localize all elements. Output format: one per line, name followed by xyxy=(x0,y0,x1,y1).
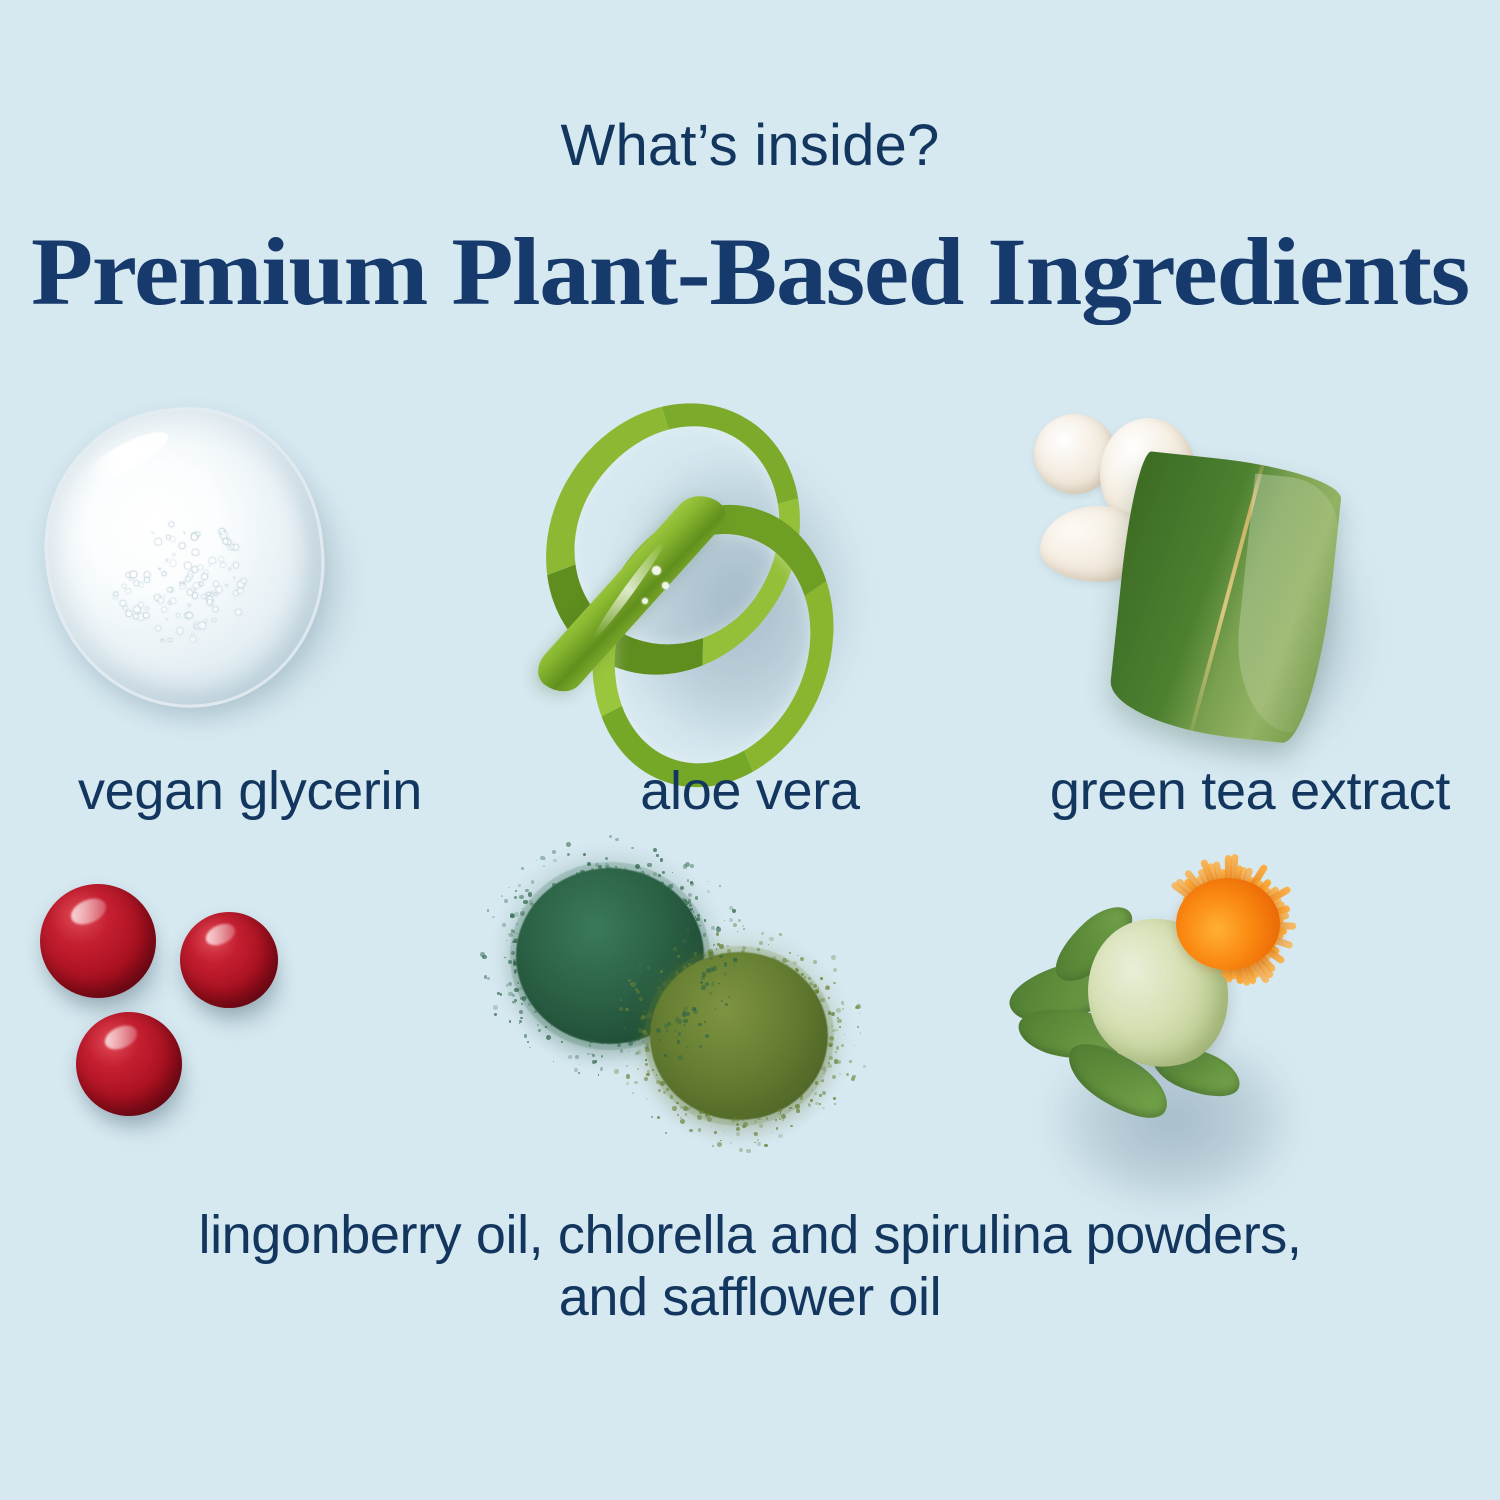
powder-speck xyxy=(759,941,763,945)
powder-speck xyxy=(602,1042,604,1044)
powder-speck xyxy=(778,1134,782,1138)
powder-speck xyxy=(651,1116,653,1118)
gel-bubble xyxy=(183,532,186,535)
gel-bubble xyxy=(167,638,172,643)
powder-speck xyxy=(746,1149,750,1153)
powder-speck xyxy=(815,1102,818,1105)
powder-speck xyxy=(704,1021,706,1023)
powder-speck xyxy=(566,842,571,847)
powder-speck xyxy=(598,1074,600,1076)
powder-speck xyxy=(523,900,528,905)
powder-speck xyxy=(645,1048,650,1053)
powder-speck xyxy=(797,955,798,956)
gel-bubble xyxy=(195,531,200,536)
powder-speck xyxy=(835,1051,837,1053)
powder-speck xyxy=(644,1010,646,1012)
powder-speck xyxy=(668,884,673,889)
lingonberry xyxy=(40,884,156,998)
powder-speck xyxy=(761,1119,762,1120)
powder-speck xyxy=(527,1041,529,1043)
powder-speck xyxy=(705,982,709,986)
powder-speck xyxy=(712,1145,714,1147)
powder-speck xyxy=(833,968,837,972)
powder-speck xyxy=(504,899,508,903)
powder-speck xyxy=(789,1107,791,1109)
powder-speck xyxy=(764,1144,768,1148)
powder-speck xyxy=(837,1019,841,1023)
aloe-vera-peel-image xyxy=(500,390,1000,735)
gel-bubble xyxy=(124,588,131,595)
gel-bubble xyxy=(212,606,218,612)
powder-speck xyxy=(614,1069,618,1073)
powder-speck xyxy=(600,1067,604,1071)
gel-bubble xyxy=(214,592,219,597)
powder-speck xyxy=(568,1055,572,1059)
powder-speck xyxy=(640,868,641,869)
powder-speck xyxy=(815,1081,819,1085)
powder-speck xyxy=(662,871,665,874)
powder-speck xyxy=(683,864,687,868)
powder-speck xyxy=(663,982,667,986)
safflower-orange-floret xyxy=(1176,878,1280,970)
green-tea-leaf-image xyxy=(1000,390,1500,735)
gel-bubble xyxy=(176,627,184,635)
gel-bubble xyxy=(145,606,149,610)
green-tea-leaf xyxy=(1106,450,1344,746)
powder-speck xyxy=(814,987,815,988)
powder-speck xyxy=(656,854,658,856)
powder-speck xyxy=(712,966,717,971)
powder-speck xyxy=(644,1077,648,1081)
gel-bubble xyxy=(169,559,177,567)
powder-speck xyxy=(844,1034,845,1035)
powder-speck xyxy=(497,992,499,994)
powder-speck xyxy=(514,912,519,917)
powder-speck xyxy=(536,860,537,861)
powder-speck xyxy=(546,1035,551,1040)
powder-speck xyxy=(725,1003,727,1005)
gel-bubble xyxy=(189,635,197,643)
powder-speck xyxy=(517,982,519,984)
powder-speck xyxy=(786,964,788,966)
powder-speck xyxy=(514,936,515,937)
powder-speck xyxy=(716,932,719,935)
powder-speck xyxy=(553,1061,554,1062)
aloe-gel-bead xyxy=(652,566,661,575)
ingredient-label-aloe-vera: aloe vera xyxy=(500,760,1000,822)
page-title: Premium Plant-Based Ingredients xyxy=(0,216,1500,327)
powder-speck xyxy=(516,933,517,934)
powder-speck xyxy=(587,862,591,866)
powder-speck xyxy=(675,1017,679,1021)
powder-speck xyxy=(822,1107,825,1110)
powder-speck xyxy=(779,933,781,935)
powder-speck xyxy=(525,997,527,999)
powder-speck xyxy=(617,1043,621,1047)
powder-speck xyxy=(524,1034,528,1038)
powder-speck xyxy=(768,944,769,945)
powder-speck xyxy=(514,969,518,973)
powder-speck xyxy=(520,911,525,916)
powder-speck xyxy=(674,1030,676,1032)
gel-bubble xyxy=(200,573,208,581)
powder-speck xyxy=(860,1032,862,1034)
powder-speck xyxy=(500,993,502,995)
powder-speck xyxy=(834,1059,838,1063)
powder-speck xyxy=(780,1112,782,1114)
powder-speck xyxy=(841,1044,844,1047)
powder-speck xyxy=(655,999,656,1000)
gel-bubble xyxy=(176,613,181,618)
gel-bubble xyxy=(168,601,173,606)
powder-speck xyxy=(660,1081,665,1086)
powder-speck xyxy=(519,895,523,899)
powder-speck xyxy=(863,1065,866,1068)
gel-bubble xyxy=(237,587,245,595)
powder-speck xyxy=(514,896,517,899)
aloe-gel-bead xyxy=(642,598,648,604)
powder-speck xyxy=(545,1026,547,1028)
powder-speck xyxy=(514,988,518,992)
powder-speck xyxy=(719,885,721,887)
powder-speck xyxy=(634,1081,637,1084)
powder-speck xyxy=(800,957,805,962)
gel-bubble xyxy=(129,570,137,578)
powder-speck xyxy=(609,867,613,871)
powder-speck xyxy=(716,948,717,949)
powder-speck xyxy=(711,955,714,958)
gel-bubble xyxy=(151,531,154,534)
powder-speck xyxy=(790,1125,792,1127)
gel-bubble xyxy=(164,594,167,597)
gel-bubble xyxy=(186,573,193,580)
powder-speck xyxy=(518,884,521,887)
powder-speck xyxy=(660,858,663,861)
gel-bubble xyxy=(125,610,133,618)
gel-bubble xyxy=(154,537,162,545)
powder-speck xyxy=(605,857,608,860)
ingredient-row-top: vegan glycerin aloe vera xyxy=(0,390,1500,830)
powder-speck xyxy=(828,1064,832,1068)
powder-speck xyxy=(487,909,489,911)
powder-speck xyxy=(820,977,823,980)
powder-speck xyxy=(757,1142,761,1146)
powder-speck xyxy=(819,1094,822,1097)
gel-bubble xyxy=(197,621,206,630)
powder-speck xyxy=(515,941,517,943)
powder-speck xyxy=(720,1140,721,1141)
gel-bubble xyxy=(161,607,167,613)
gel-bubble xyxy=(228,567,231,570)
powder-speck xyxy=(677,955,680,958)
powder-speck xyxy=(646,1073,649,1076)
powder-speck xyxy=(757,1139,759,1141)
powder-speck xyxy=(742,946,746,950)
powder-speck xyxy=(493,1005,497,1009)
powder-speck xyxy=(680,886,684,890)
ingredient-cell-lingonberry xyxy=(0,860,500,1200)
powder-speck xyxy=(754,1142,755,1143)
powder-speck xyxy=(672,872,673,873)
powder-speck xyxy=(595,863,599,867)
powder-speck xyxy=(630,983,632,985)
ingredient-cell-algae-powders xyxy=(500,860,1000,1200)
bottom-caption: lingonberry oil, chlorella and spirulina… xyxy=(0,1205,1500,1328)
powder-speck xyxy=(705,1113,709,1117)
powder-speck xyxy=(833,1097,836,1100)
powder-speck xyxy=(742,925,744,927)
powder-speck xyxy=(578,1072,579,1073)
powder-speck xyxy=(698,1128,702,1132)
powder-speck xyxy=(761,932,765,936)
gel-bubble xyxy=(240,578,246,584)
powder-speck xyxy=(769,937,773,941)
powder-speck xyxy=(829,1056,833,1060)
gel-bubble xyxy=(222,538,229,545)
powder-speck xyxy=(801,973,804,976)
powder-speck xyxy=(808,977,811,980)
powder-speck xyxy=(640,871,645,876)
powder-speck xyxy=(795,1104,800,1109)
powder-speck xyxy=(601,1056,603,1058)
powder-speck xyxy=(508,887,510,889)
bottom-caption-line-2: and safflower oil xyxy=(0,1267,1500,1329)
powder-speck xyxy=(647,1045,649,1047)
powder-speck xyxy=(502,923,506,927)
powder-speck xyxy=(757,948,760,951)
powder-speck xyxy=(580,870,584,874)
powder-speck xyxy=(544,858,546,860)
gel-bubble xyxy=(232,561,239,568)
powder-speck xyxy=(645,1059,647,1061)
powder-speck xyxy=(519,987,522,990)
powder-speck xyxy=(821,1080,823,1082)
powder-speck xyxy=(509,933,512,936)
gel-bubble xyxy=(191,548,199,556)
gel-bubble xyxy=(157,596,165,604)
powder-speck xyxy=(836,1029,838,1031)
gel-bubble xyxy=(209,565,211,567)
powder-speck xyxy=(635,988,638,991)
powder-speck xyxy=(637,1050,641,1054)
ingredient-row-bottom xyxy=(0,860,1500,1200)
powder-speck xyxy=(680,1119,685,1124)
powder-speck xyxy=(528,892,532,896)
powder-speck xyxy=(531,880,534,883)
powder-speck xyxy=(778,1108,782,1112)
powder-speck xyxy=(735,1117,740,1122)
powder-speck xyxy=(508,992,512,996)
powder-speck xyxy=(506,984,509,987)
powder-speck xyxy=(509,1020,511,1022)
powder-speck xyxy=(831,1012,835,1016)
powder-speck xyxy=(703,954,706,957)
powder-speck xyxy=(782,1119,783,1120)
powder-speck xyxy=(514,999,517,1002)
gel-bubble xyxy=(220,530,228,538)
powder-speck xyxy=(592,1060,596,1064)
powder-speck xyxy=(658,874,661,877)
powder-speck xyxy=(696,917,700,921)
powder-speck xyxy=(521,867,524,870)
powder-speck xyxy=(832,1075,836,1079)
powder-speck xyxy=(625,1008,629,1012)
powder-speck xyxy=(842,1004,843,1005)
powder-speck xyxy=(733,958,737,962)
powder-speck xyxy=(609,835,612,838)
gel-bubble xyxy=(165,618,168,621)
powder-speck xyxy=(583,853,586,856)
powder-speck xyxy=(712,981,714,983)
powder-speck xyxy=(759,952,760,953)
eyebrow-text: What’s inside? xyxy=(0,112,1500,179)
powder-speck xyxy=(690,1107,692,1109)
powder-speck xyxy=(707,1117,712,1122)
powder-speck xyxy=(698,1023,701,1026)
powder-speck xyxy=(786,960,788,962)
powder-speck xyxy=(610,1041,613,1044)
glycerin-droplet-image xyxy=(0,390,500,735)
gel-bubble xyxy=(170,587,175,592)
powder-speck xyxy=(643,1018,644,1019)
powder-speck xyxy=(658,990,663,995)
powder-speck xyxy=(701,985,705,989)
powder-speck xyxy=(561,1041,563,1043)
powder-speck xyxy=(677,1114,678,1115)
powder-speck xyxy=(635,864,640,869)
powder-speck xyxy=(733,923,737,927)
powder-speck xyxy=(506,940,507,941)
powder-speck xyxy=(626,1074,630,1078)
aloe-gel-bead xyxy=(662,582,669,589)
powder-speck xyxy=(721,1000,723,1002)
powder-speck xyxy=(711,926,715,930)
powder-speck xyxy=(519,1010,523,1014)
powder-speck xyxy=(626,1082,629,1085)
gel-bubble xyxy=(165,559,169,563)
powder-speck xyxy=(697,1115,702,1120)
powder-speck xyxy=(849,1060,852,1063)
gel-bubble xyxy=(211,618,216,623)
powder-speck xyxy=(656,1074,657,1075)
powder-speck xyxy=(714,1131,717,1134)
gel-bubble xyxy=(206,599,213,606)
powder-speck xyxy=(855,1006,858,1009)
powder-speck xyxy=(537,1024,539,1026)
powder-speck xyxy=(813,960,817,964)
powder-speck xyxy=(687,879,690,882)
powder-speck xyxy=(754,1120,757,1123)
powder-speck xyxy=(660,881,664,885)
powder-speck xyxy=(567,853,570,856)
powder-speck xyxy=(833,982,835,984)
powder-speck xyxy=(628,1051,629,1052)
powder-speck xyxy=(793,961,797,965)
powder-speck xyxy=(579,1064,580,1065)
powder-speck xyxy=(637,1068,638,1069)
ingredient-cell-aloe-vera: aloe vera xyxy=(500,390,1000,830)
powder-speck xyxy=(824,1070,826,1072)
gel-bubble xyxy=(114,592,119,597)
powder-speck xyxy=(828,1062,829,1063)
gel-bubble xyxy=(138,601,144,607)
powder-speck xyxy=(620,1049,624,1053)
powder-speck xyxy=(695,896,698,899)
powder-speck xyxy=(777,960,779,962)
powder-speck xyxy=(689,904,692,907)
powder-speck xyxy=(831,955,836,960)
powder-speck xyxy=(789,1110,790,1111)
gel-bubble xyxy=(143,612,150,619)
powder-speck xyxy=(684,1025,685,1026)
gel-bubble xyxy=(161,639,165,643)
ingredient-cell-green-tea-extract: green tea extract xyxy=(1000,390,1500,830)
powder-speck xyxy=(504,957,506,959)
powder-speck xyxy=(615,838,618,841)
powder-speck xyxy=(733,964,735,966)
powder-speck xyxy=(796,1109,800,1113)
powder-speck xyxy=(736,1132,740,1136)
powder-speck xyxy=(689,908,692,911)
powder-speck xyxy=(652,1069,654,1071)
powder-speck xyxy=(823,1073,825,1075)
powder-speck xyxy=(520,997,523,1000)
powder-speck xyxy=(528,1003,531,1006)
powder-speck xyxy=(576,872,580,876)
powder-speck xyxy=(808,1104,812,1108)
powder-speck xyxy=(647,1013,652,1018)
powder-speck xyxy=(511,951,515,955)
ingredient-label-green-tea-extract: green tea extract xyxy=(1000,760,1500,822)
powder-speck xyxy=(672,883,674,885)
gel-bubble xyxy=(233,576,236,579)
powder-speck xyxy=(693,911,694,912)
powder-speck xyxy=(854,1045,855,1046)
gel-bubble xyxy=(227,546,232,551)
powder-speck xyxy=(508,982,512,986)
powder-speck xyxy=(730,1142,732,1144)
powder-speck xyxy=(645,1063,648,1066)
powder-speck xyxy=(724,920,725,921)
gel-bubble xyxy=(208,557,216,565)
powder-speck xyxy=(657,1116,660,1119)
powder-speck xyxy=(842,1008,844,1010)
powder-speck xyxy=(706,968,711,973)
powder-speck xyxy=(703,933,707,937)
powder-speck xyxy=(743,928,745,930)
powder-speck xyxy=(640,1035,645,1040)
powder-speck xyxy=(689,1129,692,1132)
powder-speck xyxy=(775,1119,777,1121)
powder-speck xyxy=(690,864,693,867)
powder-speck xyxy=(700,981,702,983)
powder-speck xyxy=(589,1039,593,1043)
powder-speck xyxy=(552,850,556,854)
powder-speck xyxy=(739,1148,742,1151)
powder-speck xyxy=(515,890,517,892)
powder-speck xyxy=(587,1053,589,1055)
gel-bubbles xyxy=(104,511,267,656)
powder-speck xyxy=(482,955,487,960)
powder-speck xyxy=(836,1008,841,1013)
powder-speck xyxy=(642,1040,644,1042)
powder-speck xyxy=(792,1108,794,1110)
powder-speck xyxy=(665,1132,667,1134)
gel-bubble xyxy=(168,521,175,528)
powder-speck xyxy=(672,1106,677,1111)
powder-speck xyxy=(683,1106,687,1110)
powder-speck xyxy=(810,1099,812,1101)
